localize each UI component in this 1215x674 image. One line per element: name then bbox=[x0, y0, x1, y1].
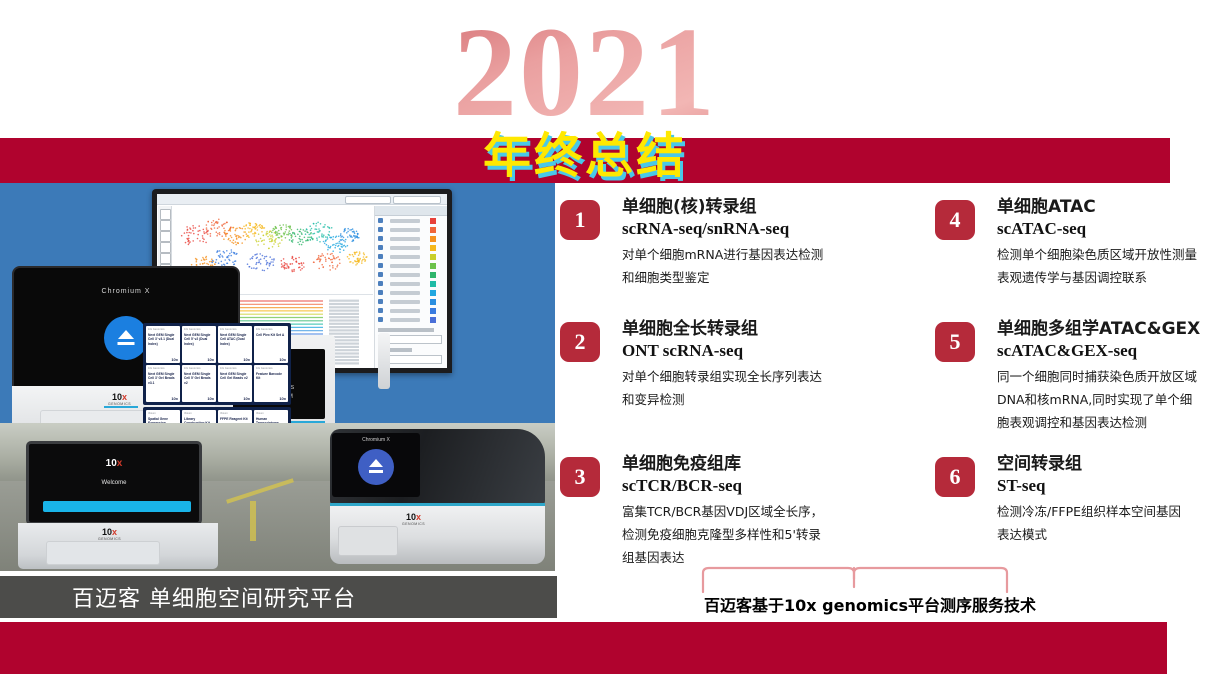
kit-name: Feature Barcode Kit bbox=[256, 372, 287, 381]
service-description-line: DNA和核mRNA,同时实现了单个细 bbox=[997, 388, 1215, 411]
cluster-label bbox=[390, 282, 420, 286]
cluster-color-swatch bbox=[430, 254, 436, 260]
kit-name: Next GEM Single Cell ATAC (Dual Index) bbox=[220, 333, 251, 346]
secondary-screen-label: Chromium X bbox=[332, 437, 420, 443]
cluster-color-swatch bbox=[430, 290, 436, 296]
cluster-checkbox-icon bbox=[378, 254, 383, 259]
service-title-cn: 单细胞全长转录组 bbox=[622, 318, 912, 340]
cluster-list-item bbox=[378, 254, 438, 261]
kit-logo: 10x bbox=[171, 357, 178, 362]
cluster-checkbox-icon bbox=[378, 308, 383, 313]
kit-box: 10x GenomicsNext GEM Single Cell 3' Gel … bbox=[146, 365, 180, 402]
cluster-list-item bbox=[378, 263, 438, 270]
cluster-checkbox-icon bbox=[378, 281, 383, 286]
service-title-cn: 单细胞多组学ATAC&GEX bbox=[997, 318, 1215, 340]
cluster-label bbox=[390, 309, 420, 313]
kit-name: Next GEM Single Cell 3' v3.1 (Dual Index… bbox=[148, 333, 179, 346]
cluster-color-swatch bbox=[430, 218, 436, 224]
service-description-line: 检测免疫细胞克隆型多样性和5'转录 bbox=[622, 523, 912, 546]
dropdown-categories bbox=[393, 196, 441, 204]
cluster-checkbox-icon bbox=[378, 245, 383, 250]
kit-logo: 10x bbox=[243, 396, 250, 401]
cluster-label bbox=[390, 219, 420, 223]
cluster-label bbox=[390, 300, 420, 304]
service-text-block: 单细胞免疫组库scTCR/BCR-seq富集TCR/BCR基因VDJ区域全长序，… bbox=[622, 453, 912, 569]
chromium-x-label: Chromium X bbox=[14, 288, 238, 295]
cluster-checkbox-icon bbox=[378, 218, 383, 223]
kit-brand: 10x Genomics bbox=[184, 328, 201, 331]
secondary-instrument-screen: Chromium X bbox=[332, 433, 420, 497]
dropdown-split bbox=[345, 196, 391, 204]
tool-lasso-icon bbox=[160, 220, 171, 231]
kit-logo: 10x bbox=[171, 396, 178, 401]
eject-button-icon bbox=[358, 449, 394, 485]
cluster-list-item bbox=[378, 281, 438, 288]
service-description-line: 和变异检测 bbox=[622, 388, 912, 411]
service-number-badge: 1 bbox=[560, 200, 600, 240]
cluster-list-item bbox=[378, 227, 438, 234]
cluster-label bbox=[390, 291, 420, 295]
controller-body: 10x GENOMICS bbox=[18, 523, 218, 569]
kit-box-grid-top: 10x GenomicsNext GEM Single Cell 3' v3.1… bbox=[143, 323, 291, 405]
kit-name: Next GEM Single Cell 5' v2 (Dual Index) bbox=[184, 333, 215, 346]
page-subtitle: 年终总结 bbox=[0, 125, 1170, 187]
service-description-line: 检测冷冻/FFPE组织样本空间基因 bbox=[997, 500, 1215, 523]
service-description-line: 表观遗传学与基因调控联系 bbox=[997, 266, 1215, 289]
service-description: 对单个细胞mRNA进行基因表达检测和细胞类型鉴定 bbox=[622, 243, 912, 289]
kit-logo: 10x bbox=[279, 357, 286, 362]
service-description-line: 对单个细胞mRNA进行基因表达检测 bbox=[622, 243, 912, 266]
cluster-color-swatch bbox=[430, 299, 436, 305]
cluster-list-item bbox=[378, 245, 438, 252]
service-text-block: 单细胞ATACscATAC-seq检测单个细胞染色质区域开放性测量表观遗传学与基… bbox=[997, 196, 1215, 289]
kit-logo: 10x bbox=[207, 396, 214, 401]
kit-logo: 10x bbox=[279, 396, 286, 401]
brace-bracket-icon bbox=[700, 565, 1010, 593]
service-title-en: scATAC-seq bbox=[997, 218, 1215, 240]
photo-caption-bar: 百迈客 单细胞空间研究平台 bbox=[0, 576, 557, 618]
service-description-line: 同一个细胞同时捕获染色质开放区域 bbox=[997, 365, 1215, 388]
footer-red-band bbox=[0, 622, 1167, 674]
cluster-color-swatch bbox=[430, 281, 436, 287]
controller-brand-sub: GENOMICS bbox=[98, 537, 121, 541]
floor-marking bbox=[250, 501, 256, 541]
kit-brand: Visium bbox=[256, 412, 264, 415]
photo-caption-text: 百迈客 单细胞空间研究平台 bbox=[0, 581, 356, 613]
cluster-list-item bbox=[378, 299, 438, 306]
tenx-logo: 10x bbox=[108, 392, 131, 402]
kit-box: 10x GenomicsNext GEM Single Cell 3' v3.1… bbox=[146, 326, 180, 363]
page-title-year: 2021 bbox=[0, 8, 1170, 136]
get-started-button bbox=[43, 501, 191, 512]
service-description: 对单个细胞转录组实现全长序列表达和变异检测 bbox=[622, 365, 912, 411]
tool-pan-icon bbox=[160, 242, 171, 253]
kit-logo: 10x bbox=[243, 357, 250, 362]
service-description: 富集TCR/BCR基因VDJ区域全长序，检测免疫细胞克隆型多样性和5'转录组基因… bbox=[622, 500, 912, 569]
kit-brand: 10x Genomics bbox=[148, 367, 165, 370]
kit-brand: Visium bbox=[220, 412, 228, 415]
cluster-panel-header bbox=[375, 206, 447, 216]
cluster-color-swatch bbox=[430, 263, 436, 269]
service-description-line: 检测单个细胞染色质区域开放性测量 bbox=[997, 243, 1215, 266]
kit-brand: 10x Genomics bbox=[256, 367, 273, 370]
kit-name: Cell Plex Kit Set A bbox=[256, 333, 287, 337]
kit-brand: 10x Genomics bbox=[256, 328, 273, 331]
cluster-checkbox-icon bbox=[378, 263, 383, 268]
secondary-instrument-top: Chromium X bbox=[330, 429, 545, 505]
cluster-checkbox-icon bbox=[378, 272, 383, 277]
service-description-line: 表达模式 bbox=[997, 523, 1215, 546]
kit-box: 10x GenomicsCell Plex Kit Set A10x bbox=[254, 326, 288, 363]
service-title-en: scTCR/BCR-seq bbox=[622, 475, 912, 497]
kit-box: 10x GenomicsNext GEM Single Cell 5' v2 (… bbox=[182, 326, 216, 363]
service-text-block: 单细胞(核)转录组scRNA-seq/snRNA-seq对单个细胞mRNA进行基… bbox=[622, 196, 912, 289]
kit-brand: Visium bbox=[184, 412, 192, 415]
service-text-block: 单细胞全长转录组ONT scRNA-seq对单个细胞转录组实现全长序列表达和变异… bbox=[622, 318, 912, 411]
service-number-badge: 5 bbox=[935, 322, 975, 362]
kit-brand: 10x Genomics bbox=[220, 367, 237, 370]
cluster-list-item bbox=[378, 308, 438, 315]
kit-box: 10x GenomicsNext GEM Single Cell ATAC (D… bbox=[218, 326, 252, 363]
cluster-color-swatch bbox=[430, 317, 436, 323]
service-number-badge: 3 bbox=[560, 457, 600, 497]
cluster-label bbox=[390, 264, 420, 268]
service-number-badge: 6 bbox=[935, 457, 975, 497]
controller-drawer bbox=[46, 541, 160, 565]
controller-tenx-logo: 10x bbox=[29, 458, 199, 469]
cluster-checkbox-icon bbox=[378, 227, 383, 232]
tool-grid-icon bbox=[160, 253, 171, 264]
tool-select-icon bbox=[160, 209, 171, 220]
cluster-label bbox=[390, 246, 420, 250]
secondary-instrument-body: 10x GENOMICS bbox=[330, 506, 545, 564]
service-text-block: 单细胞多组学ATAC&GEXscATAC&GEX-seq同一个细胞同时捕获染色质… bbox=[997, 318, 1215, 434]
cluster-list-item bbox=[378, 236, 438, 243]
cluster-label bbox=[390, 318, 420, 322]
welcome-label: Welcome bbox=[29, 480, 199, 486]
service-description-line: 富集TCR/BCR基因VDJ区域全长序， bbox=[622, 500, 912, 523]
service-title-cn: 单细胞ATAC bbox=[997, 196, 1215, 218]
service-number-badge: 4 bbox=[935, 200, 975, 240]
service-description: 检测冷冻/FFPE组织样本空间基因表达模式 bbox=[997, 500, 1215, 546]
kit-name: FFPE Reagent Kit bbox=[220, 417, 251, 421]
feature-comparison-label bbox=[378, 328, 434, 332]
platform-photo: Chromium X 10x GENOMICS 10x GENOMICS Nex… bbox=[0, 183, 555, 571]
cluster-color-swatch bbox=[430, 308, 436, 314]
cluster-label bbox=[390, 237, 420, 241]
service-text-block: 空间转录组ST-seq检测冷冻/FFPE组织样本空间基因表达模式 bbox=[997, 453, 1215, 546]
footer-note: 百迈客基于10x genomics平台测序服务技术 bbox=[560, 592, 1180, 616]
secondary-brand-logo: 10x bbox=[402, 512, 425, 522]
eject-button-icon bbox=[104, 316, 148, 360]
service-title-cn: 单细胞免疫组库 bbox=[622, 453, 912, 475]
cluster-color-swatch bbox=[430, 245, 436, 251]
kit-box: 10x GenomicsNext GEM Single Cell Gel Bea… bbox=[218, 365, 252, 402]
secondary-drawer bbox=[338, 526, 398, 556]
kit-name: Next GEM Single Cell Gel Beads v2 bbox=[220, 372, 251, 381]
service-title-cn: 单细胞(核)转录组 bbox=[622, 196, 912, 218]
cluster-checkbox-icon bbox=[378, 290, 383, 295]
controller-brand-logo: 10x bbox=[98, 527, 121, 537]
kit-brand: 10x Genomics bbox=[184, 367, 201, 370]
cluster-list-item bbox=[378, 218, 438, 225]
kit-name: Next GEM Single Cell 5' Gel Beads v2 bbox=[184, 372, 215, 385]
chromium-x-accent bbox=[104, 406, 138, 408]
kit-brand: Visium bbox=[148, 412, 156, 415]
cluster-list-item bbox=[378, 317, 438, 324]
service-number-badge: 2 bbox=[560, 322, 600, 362]
lab-photo: 10x Welcome 10x GENOMICS Chromium X bbox=[0, 423, 555, 571]
kit-box: 10x GenomicsFeature Barcode Kit10x bbox=[254, 365, 288, 402]
cluster-label bbox=[390, 273, 420, 277]
kit-brand: 10x Genomics bbox=[220, 328, 237, 331]
kit-box: 10x GenomicsNext GEM Single Cell 5' Gel … bbox=[182, 365, 216, 402]
service-description-line: 对单个细胞转录组实现全长序列表达 bbox=[622, 365, 912, 388]
service-description-line: 胞表观调控和基因表达检测 bbox=[997, 411, 1215, 434]
cluster-list-item bbox=[378, 290, 438, 297]
chromium-controller-instrument: 10x Welcome 10x GENOMICS bbox=[18, 437, 218, 565]
service-title-en: ONT scRNA-seq bbox=[622, 340, 912, 362]
chromium-secondary-instrument: Chromium X 10x GENOMICS bbox=[330, 429, 545, 569]
service-description: 同一个细胞同时捕获染色质开放区域DNA和核mRNA,同时实现了单个细胞表观调控和… bbox=[997, 365, 1215, 434]
service-list: 1单细胞(核)转录组scRNA-seq/snRNA-seq对单个细胞mRNA进行… bbox=[560, 190, 1200, 590]
service-title-cn: 空间转录组 bbox=[997, 453, 1215, 475]
service-title-en: scRNA-seq/snRNA-seq bbox=[622, 218, 912, 240]
service-title-en: ST-seq bbox=[997, 475, 1215, 497]
tool-zoom-icon bbox=[160, 231, 171, 242]
cluster-color-swatch bbox=[430, 227, 436, 233]
cluster-label bbox=[390, 255, 420, 259]
pipette-icon bbox=[378, 333, 390, 389]
cluster-color-swatch bbox=[430, 236, 436, 242]
cluster-checkbox-icon bbox=[378, 236, 383, 241]
cluster-list-item bbox=[378, 272, 438, 279]
cluster-checkbox-icon bbox=[378, 317, 383, 322]
secondary-brand-sub: GENOMICS bbox=[402, 522, 425, 526]
controller-screen: 10x Welcome bbox=[26, 441, 202, 525]
kit-brand: 10x Genomics bbox=[148, 328, 165, 331]
service-title-en: scATAC&GEX-seq bbox=[997, 340, 1215, 362]
cluster-label bbox=[390, 228, 420, 232]
cluster-color-swatch bbox=[430, 272, 436, 278]
kit-logo: 10x bbox=[207, 357, 214, 362]
service-description-line: 和细胞类型鉴定 bbox=[622, 266, 912, 289]
service-description: 检测单个细胞染色质区域开放性测量表观遗传学与基因调控联系 bbox=[997, 243, 1215, 289]
kit-name: Next GEM Single Cell 3' Gel Beads v3.1 bbox=[148, 372, 179, 385]
cluster-checkbox-icon bbox=[378, 299, 383, 304]
